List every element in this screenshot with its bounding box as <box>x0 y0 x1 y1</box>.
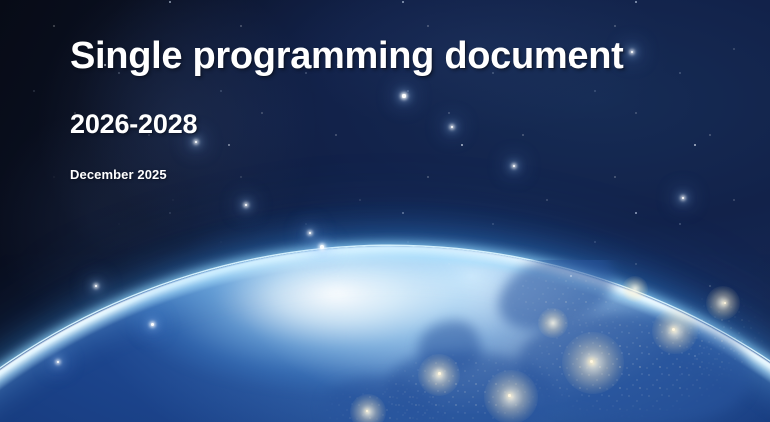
bright-star <box>309 232 311 234</box>
bright-star <box>682 197 684 199</box>
city-cluster <box>538 308 568 338</box>
document-date: December 2025 <box>70 140 624 183</box>
document-period: 2026-2028 <box>70 79 624 140</box>
city-light-point <box>508 394 511 397</box>
bright-star <box>631 51 633 53</box>
bright-star <box>320 245 324 249</box>
city-cluster <box>562 332 624 394</box>
city-cluster <box>484 370 538 422</box>
cover-text-block: Single programming document 2026-2028 De… <box>70 33 624 183</box>
city-cluster <box>622 276 648 302</box>
city-cluster <box>706 286 740 320</box>
document-cover-slide: Single programming document 2026-2028 De… <box>0 0 770 422</box>
bright-star <box>245 204 247 206</box>
city-lights-overlay <box>300 260 770 422</box>
city-cluster <box>350 394 386 422</box>
city-light-point <box>438 372 441 375</box>
city-cluster <box>652 308 698 354</box>
city-light-point <box>672 328 675 331</box>
page-title: Single programming document <box>70 33 624 79</box>
bright-star <box>151 323 154 326</box>
city-cluster <box>418 354 460 396</box>
